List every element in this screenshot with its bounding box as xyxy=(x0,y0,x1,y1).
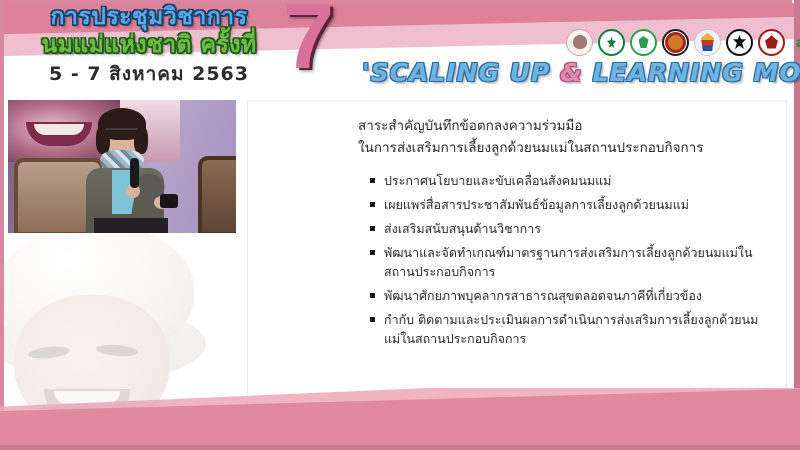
conference-title-line1: การประชุมวิชาการ xyxy=(14,2,284,32)
list-item-label: ส่งเสริมสนับสนุนด้านวิชาการ xyxy=(384,219,541,238)
content-bullet-list: ประกาศนโยบายและขับเคลื่อนสังคมนมแม่ เผยแ… xyxy=(370,171,770,353)
conference-date: 5 - 7 สิงหาคม 2563 xyxy=(14,61,284,87)
list-item: กำกับ ติดตามและประเมินผลการดำเนินการส่งเ… xyxy=(370,310,770,348)
square-bullet-icon xyxy=(370,250,375,255)
list-item-label: เผยแพร่สื่อสารประชาสัมพันธ์ข้อมูลการเลี้… xyxy=(384,195,689,214)
conference-title-line2: นมแม่แห่งชาติ ครั้งที่ xyxy=(14,30,284,60)
logo-royal-crest xyxy=(694,29,721,56)
square-bullet-icon xyxy=(370,226,375,231)
list-item: ส่งเสริมสนับสนุนด้านวิชาการ xyxy=(370,219,770,238)
content-heading-line-2: ในการส่งเสริมการเลี้ยงลูกด้วยนมแม่ในสถาน… xyxy=(358,137,778,159)
list-item-label: ประกาศนโยบายและขับเคลื่อนสังคมนมแม่ xyxy=(384,171,611,190)
square-bullet-icon xyxy=(370,178,375,183)
sponsor-logos-row: ... สสส THAI HEALTH xyxy=(566,26,800,58)
list-item: พัฒนาศักยภาพบุคลากรสาธารณสุขตลอดจนภาคีที… xyxy=(370,286,770,305)
thaihealth-subtext: THAI HEALTH xyxy=(790,50,800,54)
logo-red-seal xyxy=(758,29,785,56)
list-item: พัฒนาและจัดทำเกณฑ์มาตรฐานการส่งเสริมการเ… xyxy=(370,243,770,281)
thaihealth-wordmark: สสส xyxy=(790,37,800,50)
list-item: เผยแพร่สื่อสารประชาสัมพันธ์ข้อมูลการเลี้… xyxy=(370,195,770,214)
logo-medical-council-green xyxy=(598,29,625,56)
logo-royal-emblem xyxy=(566,29,593,56)
square-bullet-icon xyxy=(370,317,375,322)
footer-wave-decoration xyxy=(0,388,800,450)
tagline-part1: 'SCALING UP xyxy=(362,58,560,87)
square-bullet-icon xyxy=(370,202,375,207)
conference-tagline: 'SCALING UP & LEARNING MORE' xyxy=(362,58,800,87)
list-item: ประกาศนโยบายและขับเคลื่อนสังคมนมแม่ xyxy=(370,171,770,190)
logo-black-seal xyxy=(726,29,753,56)
square-bullet-icon xyxy=(370,293,375,298)
tagline-ampersand: & xyxy=(560,58,583,87)
speaker-video-inset[interactable] xyxy=(8,100,236,233)
content-heading-line-1: สาระสำคัญบันทึกข้อตกลงความร่วมมือ xyxy=(358,115,778,137)
list-item-label: พัฒนาศักยภาพบุคลากรสาธารณสุขตลอดจนภาคีที… xyxy=(384,286,702,305)
logo-nursing-council-green xyxy=(630,29,657,56)
logo-thaihealth: ... สสส THAI HEALTH xyxy=(790,29,800,56)
tagline-part2: LEARNING MORE' xyxy=(583,58,800,87)
list-item-label: กำกับ ติดตามและประเมินผลการดำเนินการส่งเ… xyxy=(384,310,770,348)
content-heading: สาระสำคัญบันทึกข้อตกลงความร่วมมือ ในการส… xyxy=(358,115,778,159)
list-item-label: พัฒนาและจัดทำเกณฑ์มาตรฐานการส่งเสริมการเ… xyxy=(384,243,770,281)
conference-title-block: การประชุมวิชาการ นมแม่แห่งชาติ ครั้งที่ … xyxy=(14,2,284,87)
presentation-slide: การประชุมวิชาการ นมแม่แห่งชาติ ครั้งที่ … xyxy=(0,0,800,450)
logo-ministry-orange xyxy=(662,29,689,56)
slide-content-panel: สาระสำคัญบันทึกข้อตกลงความร่วมมือ ในการส… xyxy=(247,100,787,416)
conference-edition-number: 7 xyxy=(283,0,334,83)
